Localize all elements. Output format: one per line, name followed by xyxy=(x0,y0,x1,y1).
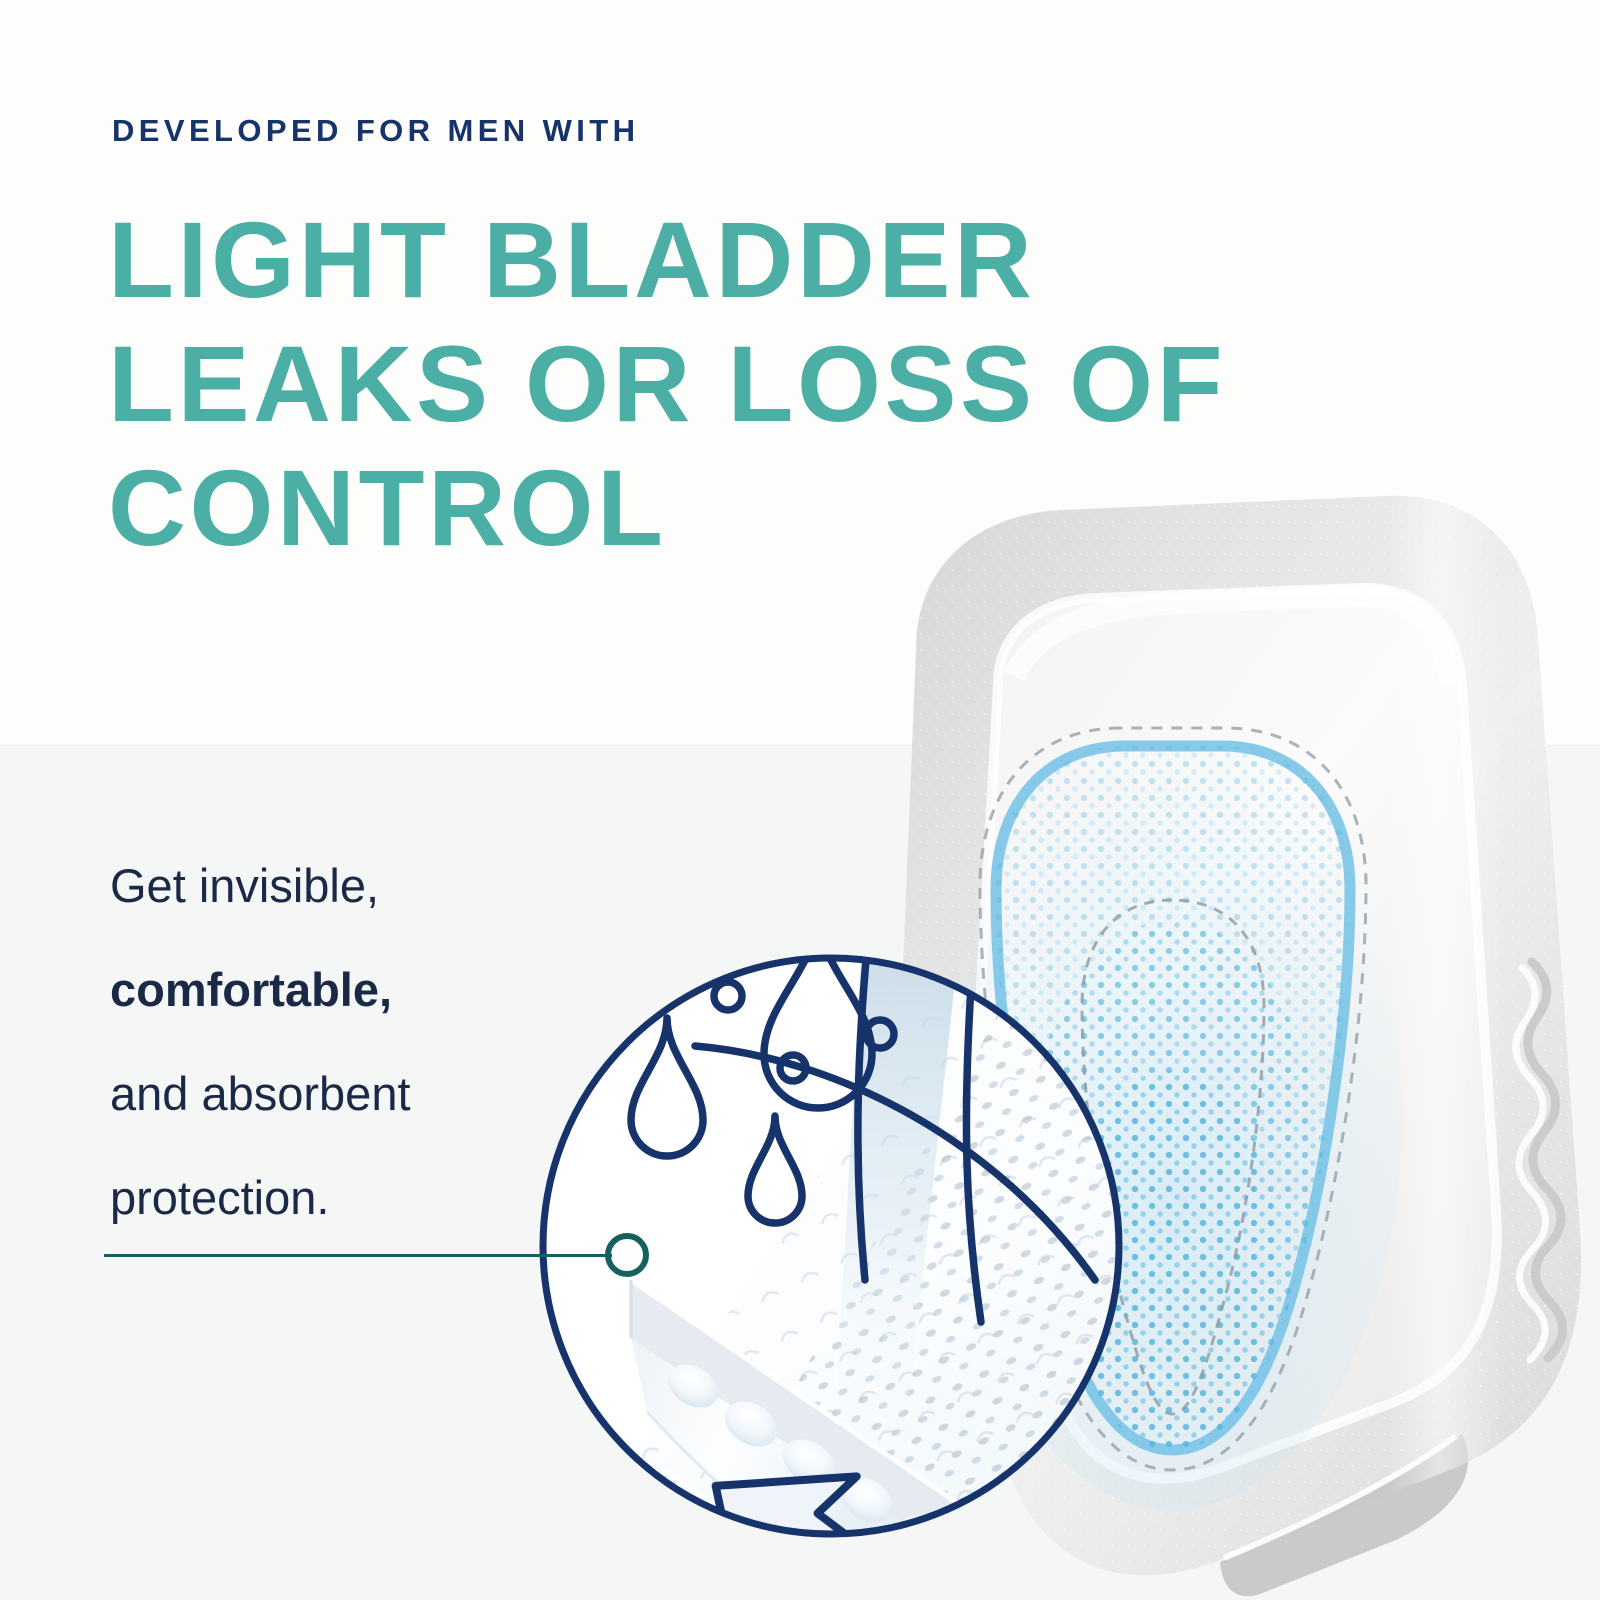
body-copy-line-1: Get invisible, xyxy=(110,859,379,912)
droplet-dot-icon xyxy=(638,947,664,973)
marketing-image-canvas: DEVELOPED FOR MEN WITH LIGHT BLADDER LEA… xyxy=(0,0,1600,1600)
pad-edge-shine xyxy=(1386,470,1506,1600)
callout-leader-ring xyxy=(605,1233,649,1277)
body-copy-line-4: protection. xyxy=(110,1171,329,1224)
callout-leader-line xyxy=(104,1254,612,1257)
body-copy-line-3: and absorbent xyxy=(110,1067,411,1120)
page-title: LIGHT BLADDER LEAKS OR LOSS OF CONTROL xyxy=(108,198,1398,570)
body-copy: Get invisible, comfortable, and absorben… xyxy=(110,834,510,1250)
eyebrow-text: DEVELOPED FOR MEN WITH xyxy=(112,113,639,149)
body-copy-emphasis: comfortable, xyxy=(110,963,392,1016)
